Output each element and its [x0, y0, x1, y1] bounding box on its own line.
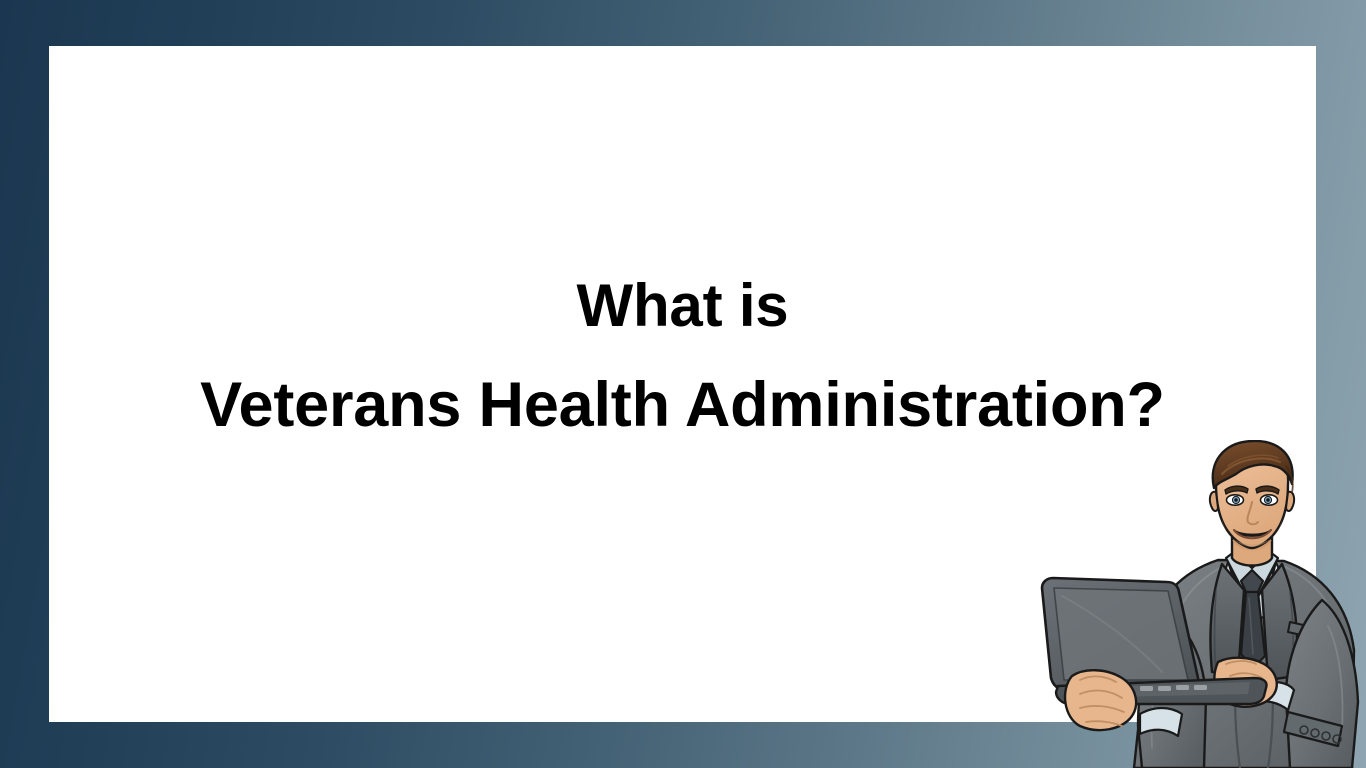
title-line-1: What is [49, 276, 1316, 336]
slide-root: What is Veterans Health Administration? [0, 0, 1366, 768]
page-title: What is Veterans Health Administration? [49, 276, 1316, 437]
title-line-2: Veterans Health Administration? [49, 374, 1316, 437]
